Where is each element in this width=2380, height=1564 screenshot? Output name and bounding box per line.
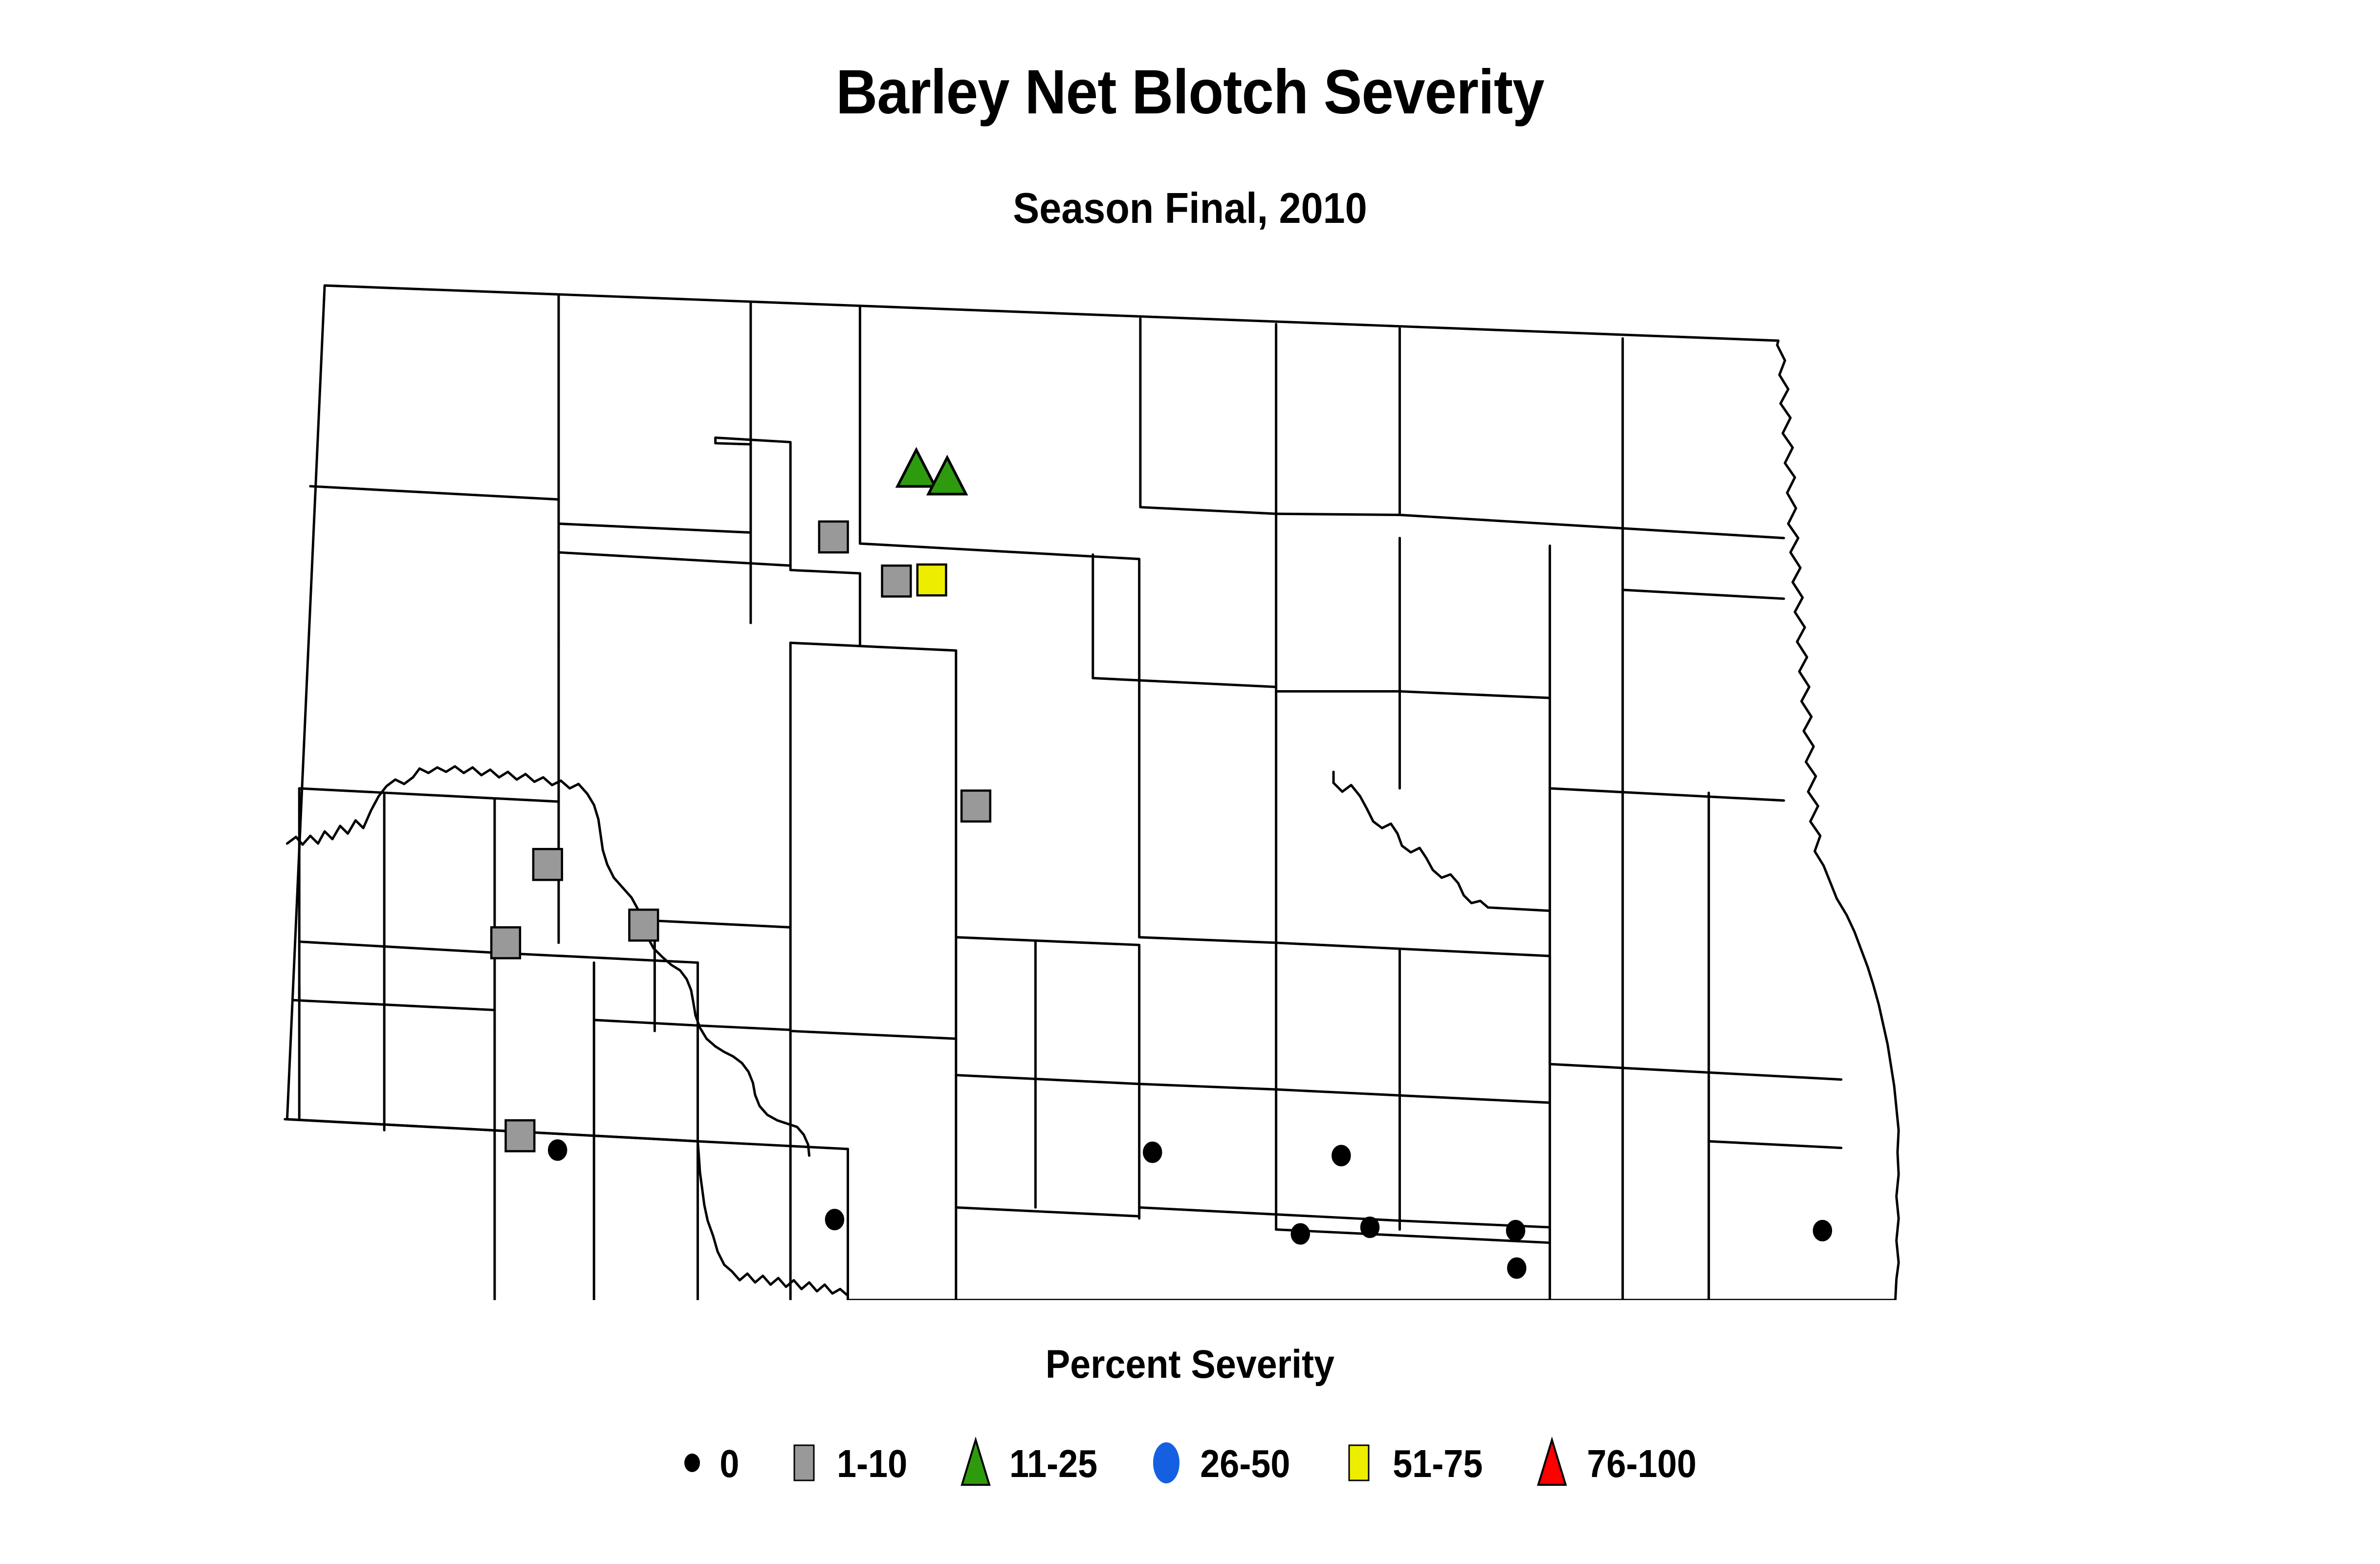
blue-circle-icon: [1149, 1436, 1183, 1492]
map-marker-0[interactable]: [549, 1140, 567, 1160]
map-page: Barley Net Blotch Severity Season Final,…: [0, 0, 2380, 1564]
page-title: Barley Net Blotch Severity: [95, 56, 2285, 128]
legend-item-51-75[interactable]: 51-75: [1342, 1436, 1488, 1492]
map-marker-0[interactable]: [1507, 1221, 1525, 1241]
map-marker-0[interactable]: [1361, 1217, 1379, 1238]
legend-item-0[interactable]: 0: [677, 1436, 741, 1492]
map-marker-1-10[interactable]: [961, 791, 990, 822]
map-marker-11-25[interactable]: [897, 450, 935, 486]
map-marker-0[interactable]: [1291, 1224, 1309, 1244]
legend-label-0: 0: [720, 1444, 739, 1483]
legend-item-26-50[interactable]: 26-50: [1149, 1436, 1295, 1492]
red-triangle-icon: [1535, 1436, 1569, 1492]
map-marker-0[interactable]: [826, 1210, 843, 1230]
map-marker-1-10[interactable]: [882, 565, 911, 596]
map-marker-11-25[interactable]: [928, 457, 966, 494]
severity-markers: [268, 450, 1892, 1300]
legend-label-51-75: 51-75: [1393, 1444, 1483, 1483]
legend-label-76-100: 76-100: [1587, 1444, 1696, 1483]
legend-item-11-25[interactable]: 11-25: [959, 1436, 1102, 1492]
map-marker-51-75[interactable]: [917, 565, 946, 595]
legend: 01-1011-2526-5051-7576-100: [0, 1427, 2380, 1500]
legend-label-26-50: 26-50: [1200, 1444, 1290, 1483]
map-marker-1-10[interactable]: [533, 849, 562, 880]
legend-item-1-10[interactable]: 1-10: [787, 1436, 911, 1492]
map-marker-1-10[interactable]: [819, 521, 848, 552]
north-dakota-county-map[interactable]: [230, 259, 1941, 1300]
green-triangle-icon: [959, 1436, 993, 1492]
map-marker-1-10[interactable]: [506, 1120, 535, 1151]
legend-label-11-25: 11-25: [1009, 1444, 1097, 1483]
yellow-square-icon: [1342, 1436, 1376, 1492]
map-marker-0[interactable]: [1332, 1146, 1350, 1166]
map-marker-0[interactable]: [1813, 1221, 1831, 1241]
legend-label-1-10: 1-10: [837, 1444, 907, 1483]
page-subtitle: Season Final, 2010: [95, 183, 2285, 233]
map-marker-0[interactable]: [1508, 1258, 1526, 1278]
black-dot-icon: [677, 1436, 707, 1492]
gray-square-icon: [787, 1436, 821, 1492]
legend-item-76-100[interactable]: 76-100: [1535, 1436, 1703, 1492]
map-marker-1-10[interactable]: [629, 910, 658, 940]
legend-title: Percent Severity: [95, 1342, 2285, 1388]
map-marker-1-10[interactable]: [491, 927, 520, 958]
map-marker-0[interactable]: [1144, 1142, 1161, 1162]
